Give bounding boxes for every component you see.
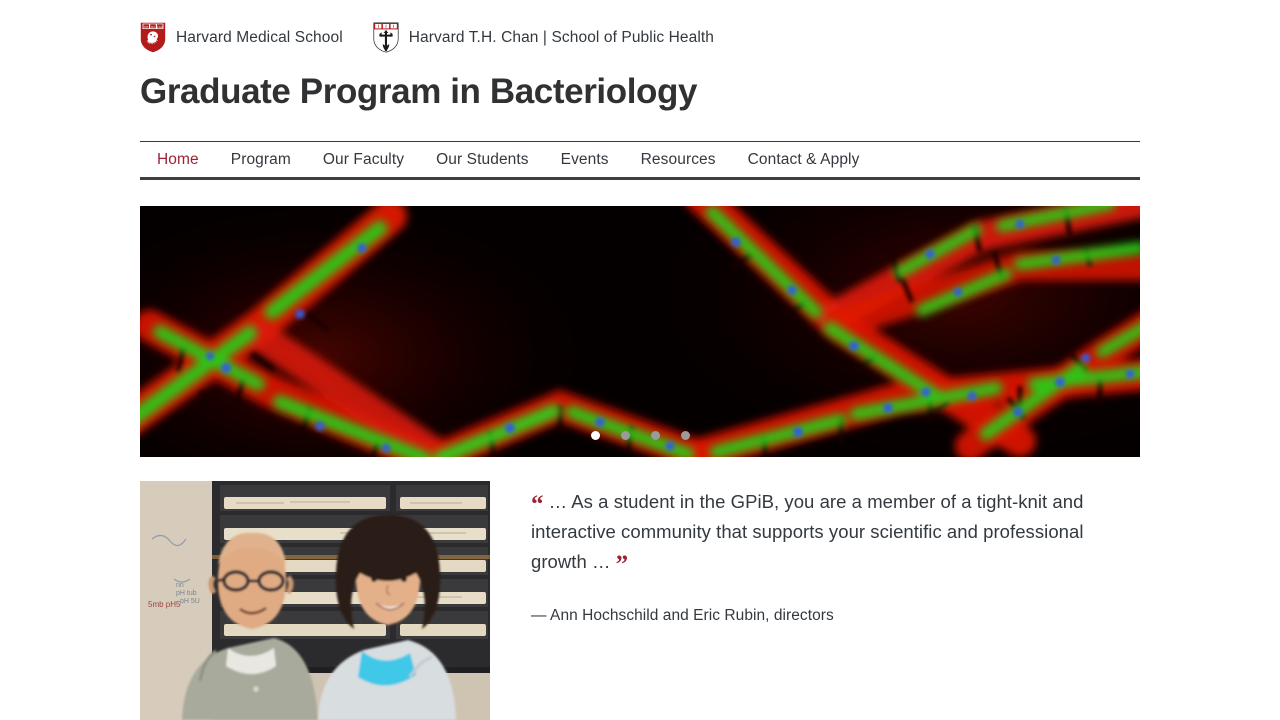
harvard-chan-logo[interactable]: Harvard T.H. Chan | School of Public Hea… [373,22,714,53]
directors-feature: 5mb pH5 nnpH tubpH 5U [140,481,1140,720]
svg-text:VE: VE [144,25,149,29]
carousel-dot-3[interactable] [651,431,660,440]
hero-carousel[interactable] [140,206,1140,457]
nav-item-our-students[interactable]: Our Students [420,142,545,178]
harvard-chan-label: Harvard T.H. Chan | School of Public Hea… [409,29,714,47]
nav-item-program[interactable]: Program [215,142,307,178]
nav-list: Home Program Our Faculty Our Students Ev… [140,142,1140,177]
svg-text:TAS: TAS [157,25,163,29]
directors-photo: 5mb pH5 nnpH tubpH 5U [140,481,490,720]
carousel-dot-2[interactable] [621,431,630,440]
affiliate-logo-bar: VE RI TAS Harvard Medical School [140,22,714,53]
page-root: VE RI TAS Harvard Medical School [0,0,1280,720]
nav-item-contact-apply[interactable]: Contact & Apply [732,142,876,178]
hero-image [140,206,1140,457]
carousel-dot-1[interactable] [591,431,600,440]
quote-column: “… As a student in the GPiB, you are a m… [531,481,1140,720]
nav-item-events[interactable]: Events [545,142,625,178]
svg-text:pH tub: pH tub [176,590,197,597]
svg-text:nn: nn [176,582,184,589]
nav-item-our-faculty[interactable]: Our Faculty [307,142,420,178]
svg-text:5mb pH5: 5mb pH5 [148,600,181,609]
harvard-medical-school-shield-icon: VE RI TAS [140,22,166,53]
harvard-medical-school-label: Harvard Medical School [176,29,343,47]
carousel-dots [140,431,1140,440]
quote-open-mark: “ [531,491,544,518]
quote-attribution: — Ann Hochschild and Eric Rubin, directo… [531,607,1140,625]
nav-item-home[interactable]: Home [140,142,215,178]
carousel-dot-4[interactable] [681,431,690,440]
svg-text:pH 5U: pH 5U [180,598,200,605]
harvard-chan-shield-icon [373,22,399,53]
harvard-medical-school-logo[interactable]: VE RI TAS Harvard Medical School [140,22,343,53]
nav-item-resources[interactable]: Resources [625,142,732,178]
primary-navigation: Home Program Our Faculty Our Students Ev… [140,141,1140,180]
page-title: Graduate Program in Bacteriology [140,72,697,112]
quote-close-mark: ” [616,551,629,578]
quote-text: “… As a student in the GPiB, you are a m… [531,487,1140,577]
quote-body: … As a student in the GPiB, you are a me… [531,491,1084,572]
